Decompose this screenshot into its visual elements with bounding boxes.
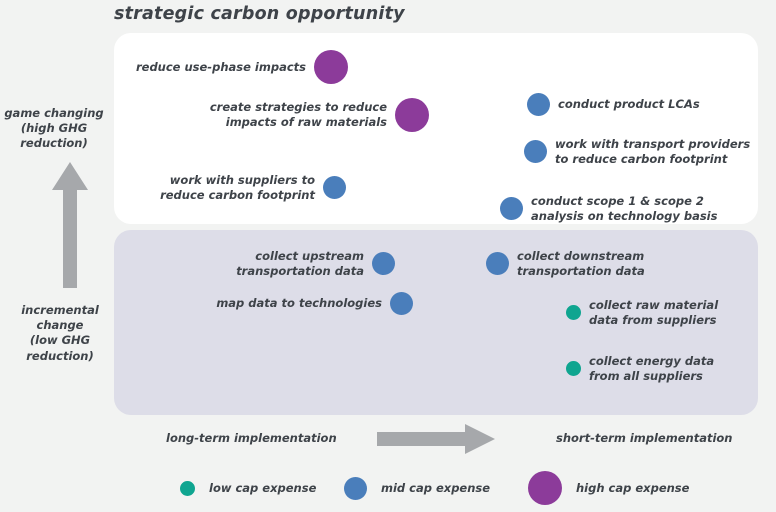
item-label: reduce use-phase impacts — [136, 60, 306, 75]
legend-item-high-cap-expense[interactable]: high cap expense — [528, 471, 689, 505]
item-label: conduct product LCAs — [558, 97, 700, 112]
item-collect-downstream-transportation-data[interactable]: collect downstream transportation data — [486, 249, 645, 279]
x-axis-right-label: short-term implementation — [556, 431, 732, 445]
item-conduct-scope-1-and-2-analysis[interactable]: conduct scope 1 & scope 2 analysis on te… — [500, 194, 717, 224]
item-work-with-transport-providers[interactable]: work with transport providers to reduce … — [524, 137, 750, 167]
item-label: work with suppliers to reduce carbon foo… — [160, 173, 315, 203]
bubble-high-cap — [528, 471, 562, 505]
legend-label: low cap expense — [209, 481, 316, 495]
item-collect-raw-material-data[interactable]: collect raw material data from suppliers — [566, 298, 718, 328]
item-label: conduct scope 1 & scope 2 analysis on te… — [531, 194, 717, 224]
bubble-low-cap — [566, 305, 581, 320]
item-create-strategies-raw-materials[interactable]: create strategies to reduce impacts of r… — [0, 98, 429, 132]
bubble-mid-cap — [486, 252, 509, 275]
bubble-mid-cap — [524, 140, 547, 163]
bubble-mid-cap — [344, 477, 367, 500]
item-label: collect downstream transportation data — [517, 249, 645, 279]
item-conduct-product-lcas[interactable]: conduct product LCAs — [527, 93, 700, 116]
bubble-low-cap — [566, 361, 581, 376]
bubble-high-cap — [395, 98, 429, 132]
bubble-mid-cap — [323, 176, 346, 199]
x-axis-left-label: long-term implementation — [166, 431, 337, 445]
item-label: collect raw material data from suppliers — [589, 298, 718, 328]
legend-item-mid-cap-expense[interactable]: mid cap expense — [344, 477, 490, 500]
bubble-low-cap — [180, 481, 195, 496]
legend-item-low-cap-expense[interactable]: low cap expense — [180, 481, 316, 496]
item-label: collect upstream transportation data — [236, 249, 364, 279]
legend-label: high cap expense — [576, 481, 689, 495]
item-map-data-to-technologies[interactable]: map data to technologies — [0, 292, 413, 315]
item-label: map data to technologies — [216, 296, 382, 311]
item-label: create strategies to reduce impacts of r… — [210, 100, 387, 130]
item-label: collect energy data from all suppliers — [589, 354, 714, 384]
item-work-with-suppliers[interactable]: work with suppliers to reduce carbon foo… — [0, 173, 346, 203]
legend: low cap expense mid cap expense high cap… — [180, 473, 700, 503]
item-label: work with transport providers to reduce … — [555, 137, 750, 167]
item-reduce-use-phase-impacts[interactable]: reduce use-phase impacts — [0, 50, 348, 84]
page-title: strategic carbon opportunity — [114, 4, 405, 24]
legend-label: mid cap expense — [381, 481, 490, 495]
bubble-mid-cap — [527, 93, 550, 116]
strategic-carbon-opportunity-chart: strategic carbon opportunity game changi… — [0, 0, 776, 512]
bubble-mid-cap — [390, 292, 413, 315]
rightward-arrow-icon — [377, 424, 495, 454]
item-collect-energy-data[interactable]: collect energy data from all suppliers — [566, 354, 714, 384]
bubble-mid-cap — [500, 197, 523, 220]
bubble-mid-cap — [372, 252, 395, 275]
bubble-high-cap — [314, 50, 348, 84]
item-collect-upstream-transportation-data[interactable]: collect upstream transportation data — [0, 249, 395, 279]
